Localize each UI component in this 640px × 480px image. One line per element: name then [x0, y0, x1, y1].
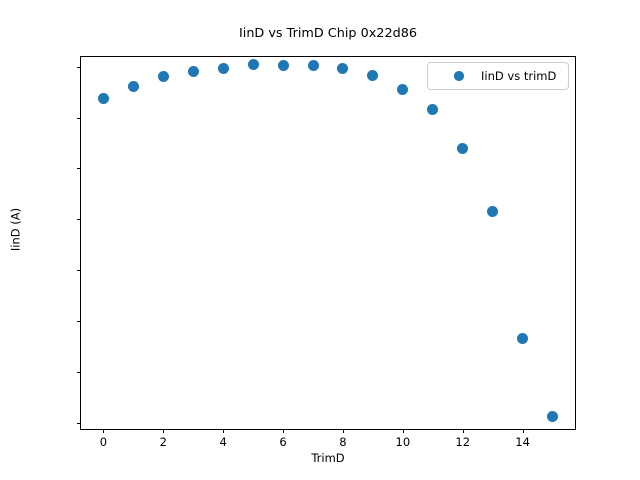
scatter-point	[397, 84, 408, 95]
scatter-point	[367, 70, 378, 81]
scatter-point	[487, 206, 498, 217]
y-axis-label: IinD (A)	[10, 170, 23, 290]
legend-entry-label: IinD vs trimD	[481, 69, 558, 83]
scatter-points-layer	[81, 57, 575, 429]
x-axis-tick	[103, 429, 104, 433]
x-axis-tick-label: 0	[83, 436, 123, 449]
scatter-point	[427, 104, 438, 115]
y-axis-tick	[77, 321, 81, 322]
scatter-point	[98, 93, 109, 104]
x-axis-tick-label: 10	[383, 436, 423, 449]
y-axis-tick	[77, 168, 81, 169]
scatter-point	[517, 333, 528, 344]
scatter-point	[457, 143, 468, 154]
scatter-point	[547, 411, 558, 422]
x-axis-tick	[163, 429, 164, 433]
scatter-point	[218, 63, 229, 74]
y-axis-tick	[77, 118, 81, 119]
scatter-point	[248, 59, 259, 70]
scatter-point	[337, 63, 348, 74]
y-axis-tick	[77, 372, 81, 373]
x-axis-tick	[223, 429, 224, 433]
y-axis-tick	[77, 67, 81, 68]
y-axis-tick	[77, 219, 81, 220]
scatter-point	[128, 81, 139, 92]
page-title: IinD vs TrimD Chip 0x22d86	[80, 26, 576, 41]
x-axis-tick	[343, 429, 344, 433]
x-axis-tick	[523, 429, 524, 433]
x-axis-tick-label: 2	[143, 436, 183, 449]
x-axis-tick-label: 6	[263, 436, 303, 449]
plot-axes: 0.830.840.850.860.870.880.890.9002468101…	[80, 56, 576, 430]
x-axis-tick	[283, 429, 284, 433]
y-axis-tick	[77, 270, 81, 271]
x-axis-tick	[463, 429, 464, 433]
scatter-point	[188, 66, 199, 77]
legend: IinD vs trimD	[427, 62, 569, 90]
x-axis-tick-label: 12	[443, 436, 483, 449]
legend-marker-icon	[454, 71, 464, 81]
scatter-point	[158, 71, 169, 82]
legend-marker-cell	[437, 71, 481, 81]
x-axis-tick	[403, 429, 404, 433]
matplotlib-figure: IinD vs TrimD Chip 0x22d86 0.830.840.850…	[0, 0, 640, 480]
x-axis-label: TrimD	[80, 452, 576, 465]
x-axis-tick-label: 4	[203, 436, 243, 449]
scatter-point	[278, 60, 289, 71]
y-axis-tick	[77, 423, 81, 424]
scatter-point	[308, 60, 319, 71]
x-axis-tick-label: 8	[323, 436, 363, 449]
x-axis-tick-label: 14	[503, 436, 543, 449]
